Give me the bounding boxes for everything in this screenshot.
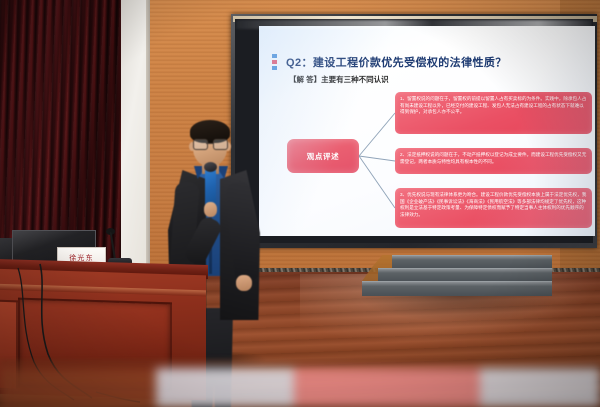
eyeglass-lens-right: [213, 139, 228, 150]
screen-top-glint: [236, 20, 592, 29]
foreground-blur-band: [0, 368, 600, 407]
diagram-hub-node: 观点评述: [287, 139, 359, 173]
diagram-node-2: 2、法定抵押权说的问题在于，不动产抵押权以登记为成立要件。而建设工程优先受偿权又…: [395, 148, 592, 174]
eyeglass-lens-left: [193, 139, 208, 150]
lecture-hall-photo: Q2：建设工程价款优先受偿权的法律性质？ 【解 答】主要有三种不同认识 观点评述…: [0, 0, 600, 407]
diagram-node-1: 1、留置权说的问题在于，留置权的前提以留置人占有买卖标的为条件。实践中，除承包人…: [395, 92, 592, 134]
handheld-microphone-head: [204, 162, 217, 172]
eyeglass-bridge: [206, 143, 213, 144]
wall-pillar: [121, 0, 149, 272]
eyeglasses-icon: [192, 139, 228, 148]
presentation-slide: Q2：建设工程价款优先受偿权的法律性质？ 【解 答】主要有三种不同认识 观点评述…: [259, 26, 595, 236]
step-middle: [378, 268, 552, 282]
speaker-hand-left: [204, 202, 217, 217]
step-top: [392, 255, 552, 269]
diagram-node-3: 3、优先权说与现有法律体系更为吻合。建设工程价款优先受偿权本质上属于法定优先权，…: [395, 188, 592, 228]
step-bottom: [362, 281, 552, 296]
projection-screen: Q2：建设工程价款优先受偿权的法律性质？ 【解 答】主要有三种不同认识 观点评述…: [259, 26, 595, 236]
stage-steps: [362, 255, 552, 307]
speaker-hand-right: [236, 275, 252, 291]
